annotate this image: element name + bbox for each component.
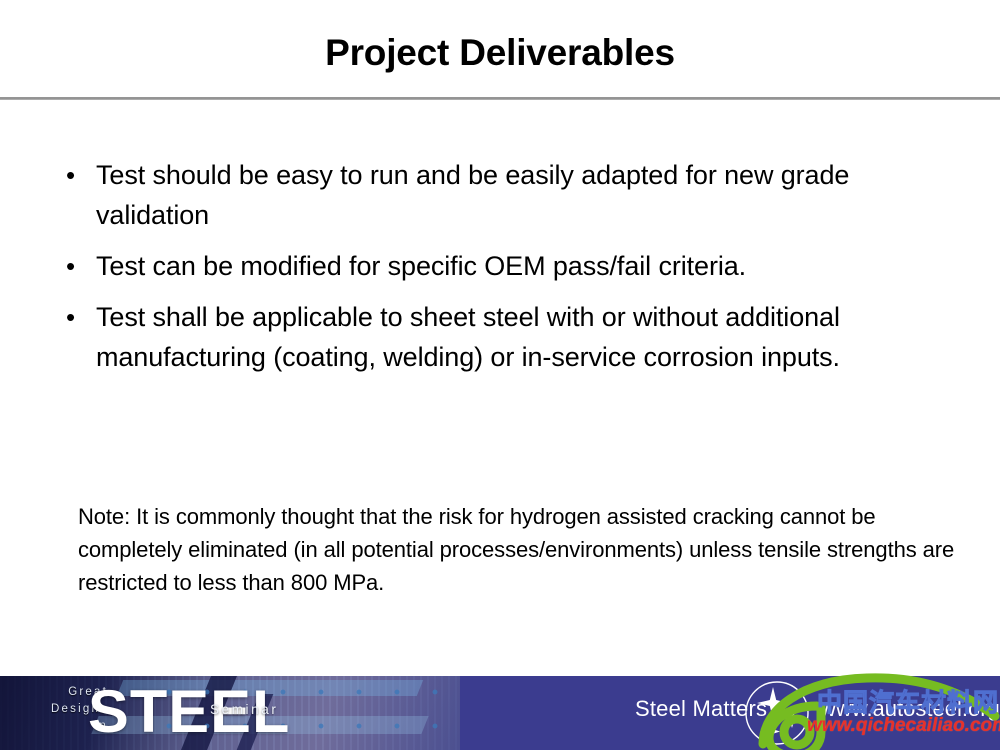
footer-photo-collage: Great Designs in STEEL Seminar (0, 676, 460, 750)
steel-star-logo-icon (743, 679, 811, 747)
note-block: Note: It is commonly thought that the ri… (78, 500, 958, 599)
title-area: Project Deliverables (0, 34, 1000, 73)
bullet-list: • Test should be easy to run and be easi… (58, 155, 938, 388)
footer-banner: Great Designs in STEEL Seminar Steel Mat… (0, 676, 1000, 750)
page-title: Project Deliverables (325, 34, 675, 73)
list-item-label: Test should be easy to run and be easily… (96, 155, 938, 235)
gdis-logo-suffix: Seminar (210, 702, 278, 717)
list-item-label: Test can be modified for specific OEM pa… (96, 246, 938, 286)
bullet-icon: • (58, 297, 96, 337)
autosteel-url-label: www.autosteel.org (820, 696, 1000, 722)
list-item-label: Test shall be applicable to sheet steel … (96, 297, 938, 377)
list-item: • Test shall be applicable to sheet stee… (58, 297, 938, 377)
note-text: Note: It is commonly thought that the ri… (78, 500, 958, 599)
list-item: • Test should be easy to run and be easi… (58, 155, 938, 235)
footer-right-panel: Steel Matters www.autosteel.org (460, 676, 1000, 750)
bullet-icon: • (58, 155, 96, 195)
bullet-icon: • (58, 246, 96, 286)
slide-canvas: Project Deliverables • Test should be ea… (0, 0, 1000, 750)
list-item: • Test can be modified for specific OEM … (58, 246, 938, 286)
title-divider (0, 97, 1000, 100)
